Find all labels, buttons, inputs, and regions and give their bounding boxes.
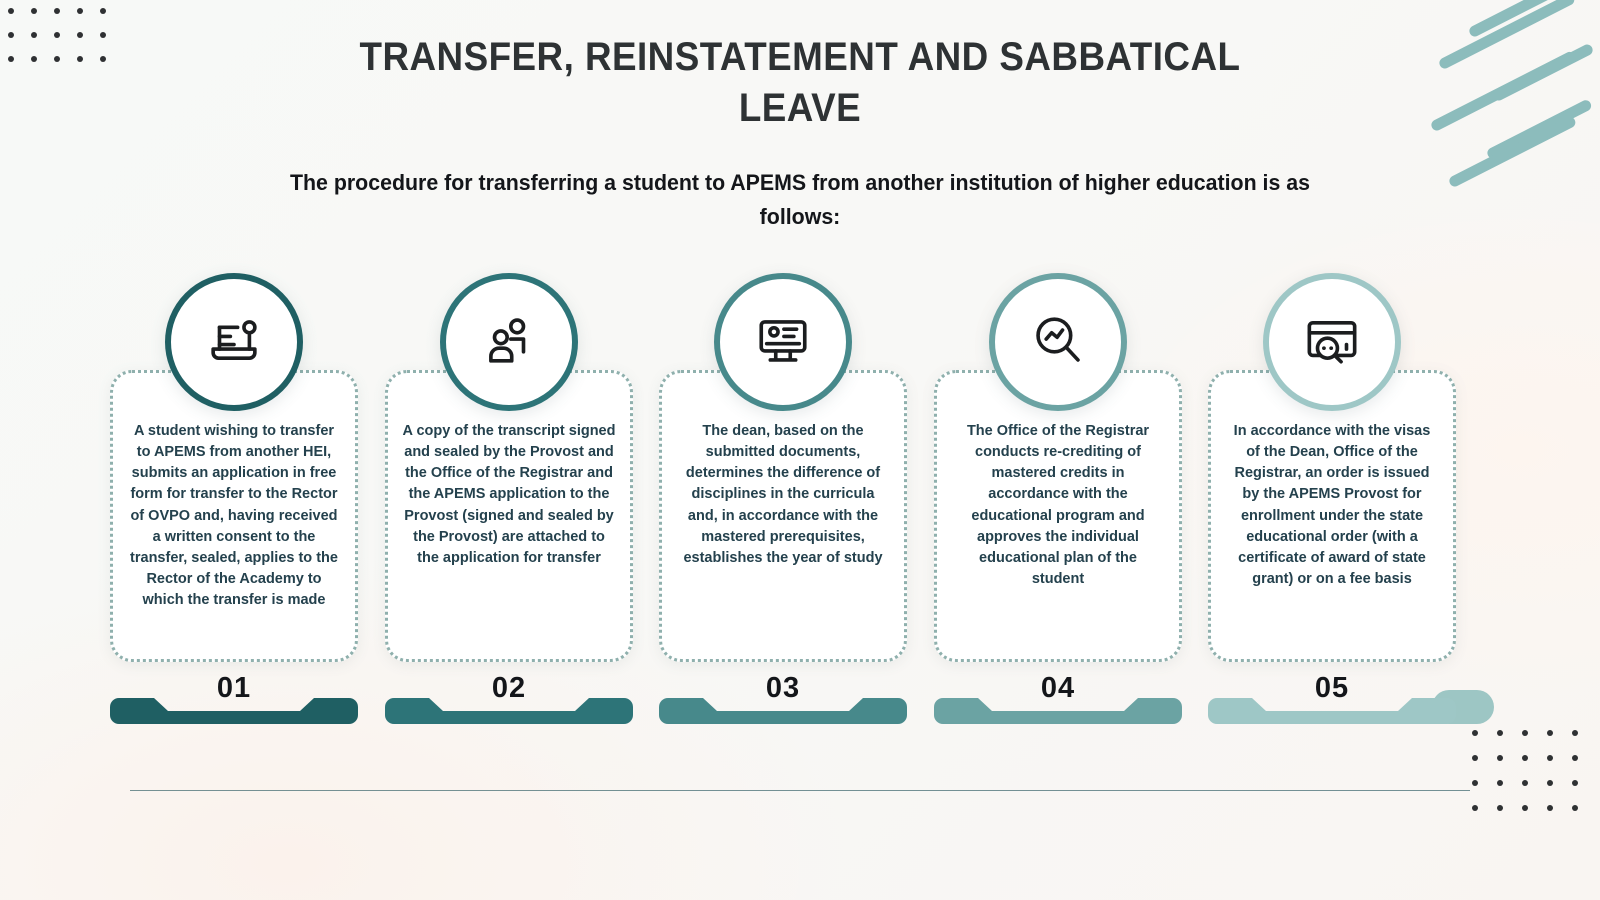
step-card-body: The Office of the Registrar conducts re-… <box>934 370 1182 662</box>
decorative-dot <box>54 32 60 38</box>
page-subtitle: The procedure for transferring a student… <box>257 166 1343 234</box>
step-card-body: A student wishing to transfer to APEMS f… <box>110 370 358 662</box>
step-color-bar-fill <box>659 698 907 724</box>
decorative-dot <box>8 56 14 62</box>
step-description: A copy of the transcript signed and seal… <box>402 421 616 569</box>
step-card: A student wishing to transfer to APEMS f… <box>110 370 358 662</box>
decorative-dot <box>1472 805 1478 811</box>
decorative-dot <box>1522 755 1528 761</box>
monitor-id-card-icon <box>754 311 812 374</box>
decorative-dot <box>100 32 106 38</box>
step-description: A student wishing to transfer to APEMS f… <box>127 421 341 611</box>
step-description: The Office of the Registrar conducts re-… <box>951 421 1165 590</box>
decorative-dot <box>1572 780 1578 786</box>
page-title: TRANSFER, REINSTATEMENT AND SABBATICAL L… <box>340 32 1260 134</box>
decorative-dot <box>77 56 83 62</box>
step-icon-circle <box>165 273 303 411</box>
step-description: In accordance with the visas of the Dean… <box>1225 421 1439 590</box>
step-color-bar <box>385 698 633 724</box>
decorative-dot <box>1547 755 1553 761</box>
step-card: A copy of the transcript signed and seal… <box>385 370 633 662</box>
decorative-dot <box>1572 755 1578 761</box>
step-card-body: The dean, based on the submitted documen… <box>659 370 907 662</box>
decorative-dot <box>1497 755 1503 761</box>
step-color-bar-fill <box>934 698 1182 724</box>
decorative-dot <box>100 8 106 14</box>
step-icon-circle <box>714 273 852 411</box>
decorative-dot <box>1522 730 1528 736</box>
certificate-search-icon <box>1303 311 1361 374</box>
decorative-dot <box>1522 780 1528 786</box>
decorative-dot <box>31 8 37 14</box>
decorative-dot <box>54 8 60 14</box>
step-color-bar-fill <box>110 698 358 724</box>
decorative-dot <box>8 32 14 38</box>
decorative-dot <box>54 56 60 62</box>
decorative-dot <box>1572 805 1578 811</box>
decorative-dot <box>1497 805 1503 811</box>
step-card-body: A copy of the transcript signed and seal… <box>385 370 633 662</box>
infographic-slide: TRANSFER, REINSTATEMENT AND SABBATICAL L… <box>0 0 1600 900</box>
step-card-body: In accordance with the visas of the Dean… <box>1208 370 1456 662</box>
step-card: The dean, based on the submitted documen… <box>659 370 907 662</box>
decorative-dot <box>31 56 37 62</box>
decorative-dot <box>31 32 37 38</box>
step-icon-circle <box>989 273 1127 411</box>
decorative-dot <box>1472 730 1478 736</box>
decorative-dot <box>1497 730 1503 736</box>
step-color-bar-fill <box>1208 698 1456 724</box>
two-people-icon <box>480 311 538 374</box>
step-description: The dean, based on the submitted documen… <box>676 421 890 569</box>
step-icon-circle <box>1263 273 1401 411</box>
decorative-brush-stroke <box>1448 115 1578 188</box>
online-application-icon <box>205 311 263 374</box>
bottom-divider-line <box>130 790 1470 791</box>
decorative-dot <box>100 56 106 62</box>
step-color-bar <box>659 698 907 724</box>
step-card: In accordance with the visas of the Dean… <box>1208 370 1456 662</box>
step-color-bar <box>110 698 358 724</box>
decorative-dot <box>1572 730 1578 736</box>
step-icon-circle <box>440 273 578 411</box>
decorative-dot <box>1472 755 1478 761</box>
decorative-dot <box>1547 730 1553 736</box>
decorative-brush-strokes <box>1430 0 1600 200</box>
step-color-bar <box>934 698 1182 724</box>
step-color-bar-fill <box>385 698 633 724</box>
decorative-dot <box>1522 805 1528 811</box>
decorative-dot <box>8 8 14 14</box>
decorative-dot <box>77 32 83 38</box>
step-card: The Office of the Registrar conducts re-… <box>934 370 1182 662</box>
decorative-dot <box>1497 780 1503 786</box>
decorative-dot <box>77 8 83 14</box>
decorative-dot <box>1472 780 1478 786</box>
step-color-bar <box>1208 698 1456 724</box>
decorative-dot <box>1547 780 1553 786</box>
decorative-dot <box>1547 805 1553 811</box>
magnifier-chart-icon <box>1029 311 1087 374</box>
